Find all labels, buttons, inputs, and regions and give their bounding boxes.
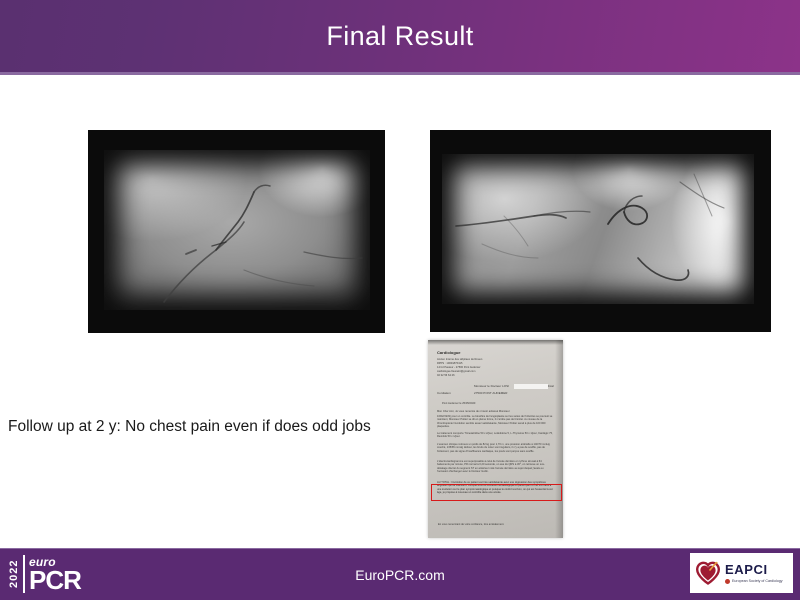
letter-recipient: Monsieur le Docteur LOSI (474, 385, 509, 388)
letter-header-line-1: RPPS : 10001876415 (437, 362, 462, 365)
letter-recipient-role: Cordialem (437, 392, 451, 395)
letter-header-line-2: 14 bd Pasteur - 27500 Pont Audemer (437, 366, 481, 369)
letter-header-line-0: Ancien Interne des Hôpitaux de Rouen (437, 358, 482, 361)
letter-paragraph-0: 16/02/1933) pour un contrôle. Le bénéfic… (437, 415, 555, 429)
letter-header-line-4: 02 32 56 64 26 (437, 374, 455, 377)
eapci-logo: EAPCI European Society of Cardiology (690, 553, 793, 593)
europcr-logo-pcr: PCR (29, 568, 81, 593)
angiogram-left-image (88, 130, 385, 333)
scan-right-shadow (555, 340, 563, 538)
red-highlight-annotation (431, 484, 562, 501)
follow-up-caption: Follow up at 2 y: No chest pain even if … (8, 417, 438, 437)
footer-website: EuroPCR.com (0, 549, 800, 600)
angiogram-right-image (430, 130, 771, 332)
angiogram-right-field (442, 154, 754, 304)
angiogram-right-vessels (442, 154, 754, 304)
europcr-logo-wordmark: euro PCR (29, 556, 81, 593)
europcr-logo-divider (23, 555, 25, 593)
letter-header-line-3: cardiologue.fleuraint@gmail.com (437, 370, 475, 373)
heart-icon (695, 560, 721, 586)
scan-top-shadow (428, 340, 563, 345)
letter-paragraph-1: Le traitement comporte Trimetazidine 50 … (437, 432, 555, 439)
europcr-logo-year: 2022 (8, 554, 20, 594)
eapci-logo-name: EAPCI (725, 563, 783, 577)
eapci-logo-text: EAPCI European Society of Cardiology (725, 563, 783, 584)
eapci-logo-subtitle: European Society of Cardiology (732, 579, 783, 584)
letter-place-date: Pont Audemer le 25/05/2020 (442, 402, 475, 405)
letter-paragraph-2: L'examen clinique retrouve un poids de 8… (437, 443, 555, 453)
letter-name-redaction-box (514, 384, 548, 389)
letter-paragraph-3: L'électrocardiogramme est superposable à… (437, 460, 555, 474)
letter-specialty: Cardiologue (437, 351, 461, 354)
europcr-logo: 2022 euro PCR (8, 552, 98, 596)
esc-dot-icon (725, 579, 730, 584)
angiogram-left-vessels (104, 150, 370, 310)
page-title: Final Result (0, 0, 800, 72)
letter-closing: En vous remerciant de votre confiance, t… (438, 523, 504, 526)
header-underline (0, 72, 800, 75)
letter-salutation: Mon Cher Ami, Je vous remercie de m'avoi… (437, 410, 510, 413)
eapci-logo-subtitle-row: European Society of Cardiology (725, 579, 783, 584)
angiogram-left-field (104, 150, 370, 310)
letter-recipient-city: 27500 PONT AUDEMER (474, 392, 507, 395)
scanned-medical-letter: Cardiologue Ancien Interne des Hôpitaux … (428, 340, 563, 538)
